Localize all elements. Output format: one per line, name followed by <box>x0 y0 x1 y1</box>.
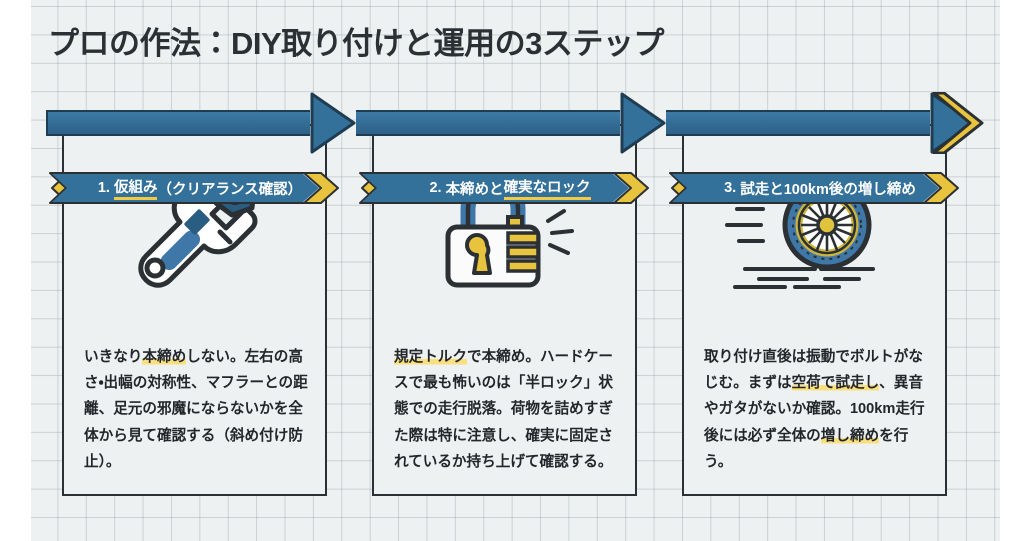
step-banner-3[interactable]: 3. 試走と100km後の増し締め <box>666 172 974 204</box>
body-part: いきなり <box>84 349 142 365</box>
flow-bar-3 <box>666 110 930 136</box>
body-highlight: 増し締め <box>821 428 879 444</box>
flow-arrowhead-2 <box>620 92 666 154</box>
page-title: プロの作法：DIY取り付けと運用の3ステップ <box>48 22 948 66</box>
body-highlight: 空荷で試走し <box>792 375 880 391</box>
body-highlight: 本締め <box>142 349 186 365</box>
flow-bar-2 <box>356 110 620 136</box>
right-margin <box>1000 0 1024 541</box>
step-banner-1[interactable]: 1. 仮組み（クリアランス確認） <box>46 172 354 204</box>
body-part: しない。左右の高さ・出幅の対称性、マフラーとの距離、足元の邪魔にならないかを全体… <box>84 349 308 470</box>
infographic-canvas: プロの作法：DIY取り付けと運用の3ステップ いきなり本締めしない <box>0 0 1024 541</box>
flow-arrowhead-final <box>930 92 976 154</box>
step-banner-2[interactable]: 2. 本締めと確実なロック <box>356 172 664 204</box>
step-body-1: いきなり本締めしない。左右の高さ・出幅の対称性、マフラーとの距離、足元の邪魔にな… <box>84 344 310 475</box>
flow-bar-1 <box>46 110 310 136</box>
body-highlight: 規定トルク <box>394 349 467 365</box>
step-body-2: 規定トルクで本締め。ハードケースで最も怖いのは「半ロック」状態での走行脱落。荷物… <box>394 344 620 475</box>
left-margin <box>0 0 31 541</box>
step-body-3: 取り付け直後は振動でボルトがなじむ。まずは空荷で試走し、異音やガタがないか確認。… <box>704 344 930 475</box>
flow-arrowhead-1 <box>310 92 356 154</box>
process-flow-arrow <box>46 110 986 136</box>
body-part: で本締め。ハードケースで最も怖いのは「半ロック」状態での走行脱落。荷物を詰めすぎ… <box>394 349 613 470</box>
